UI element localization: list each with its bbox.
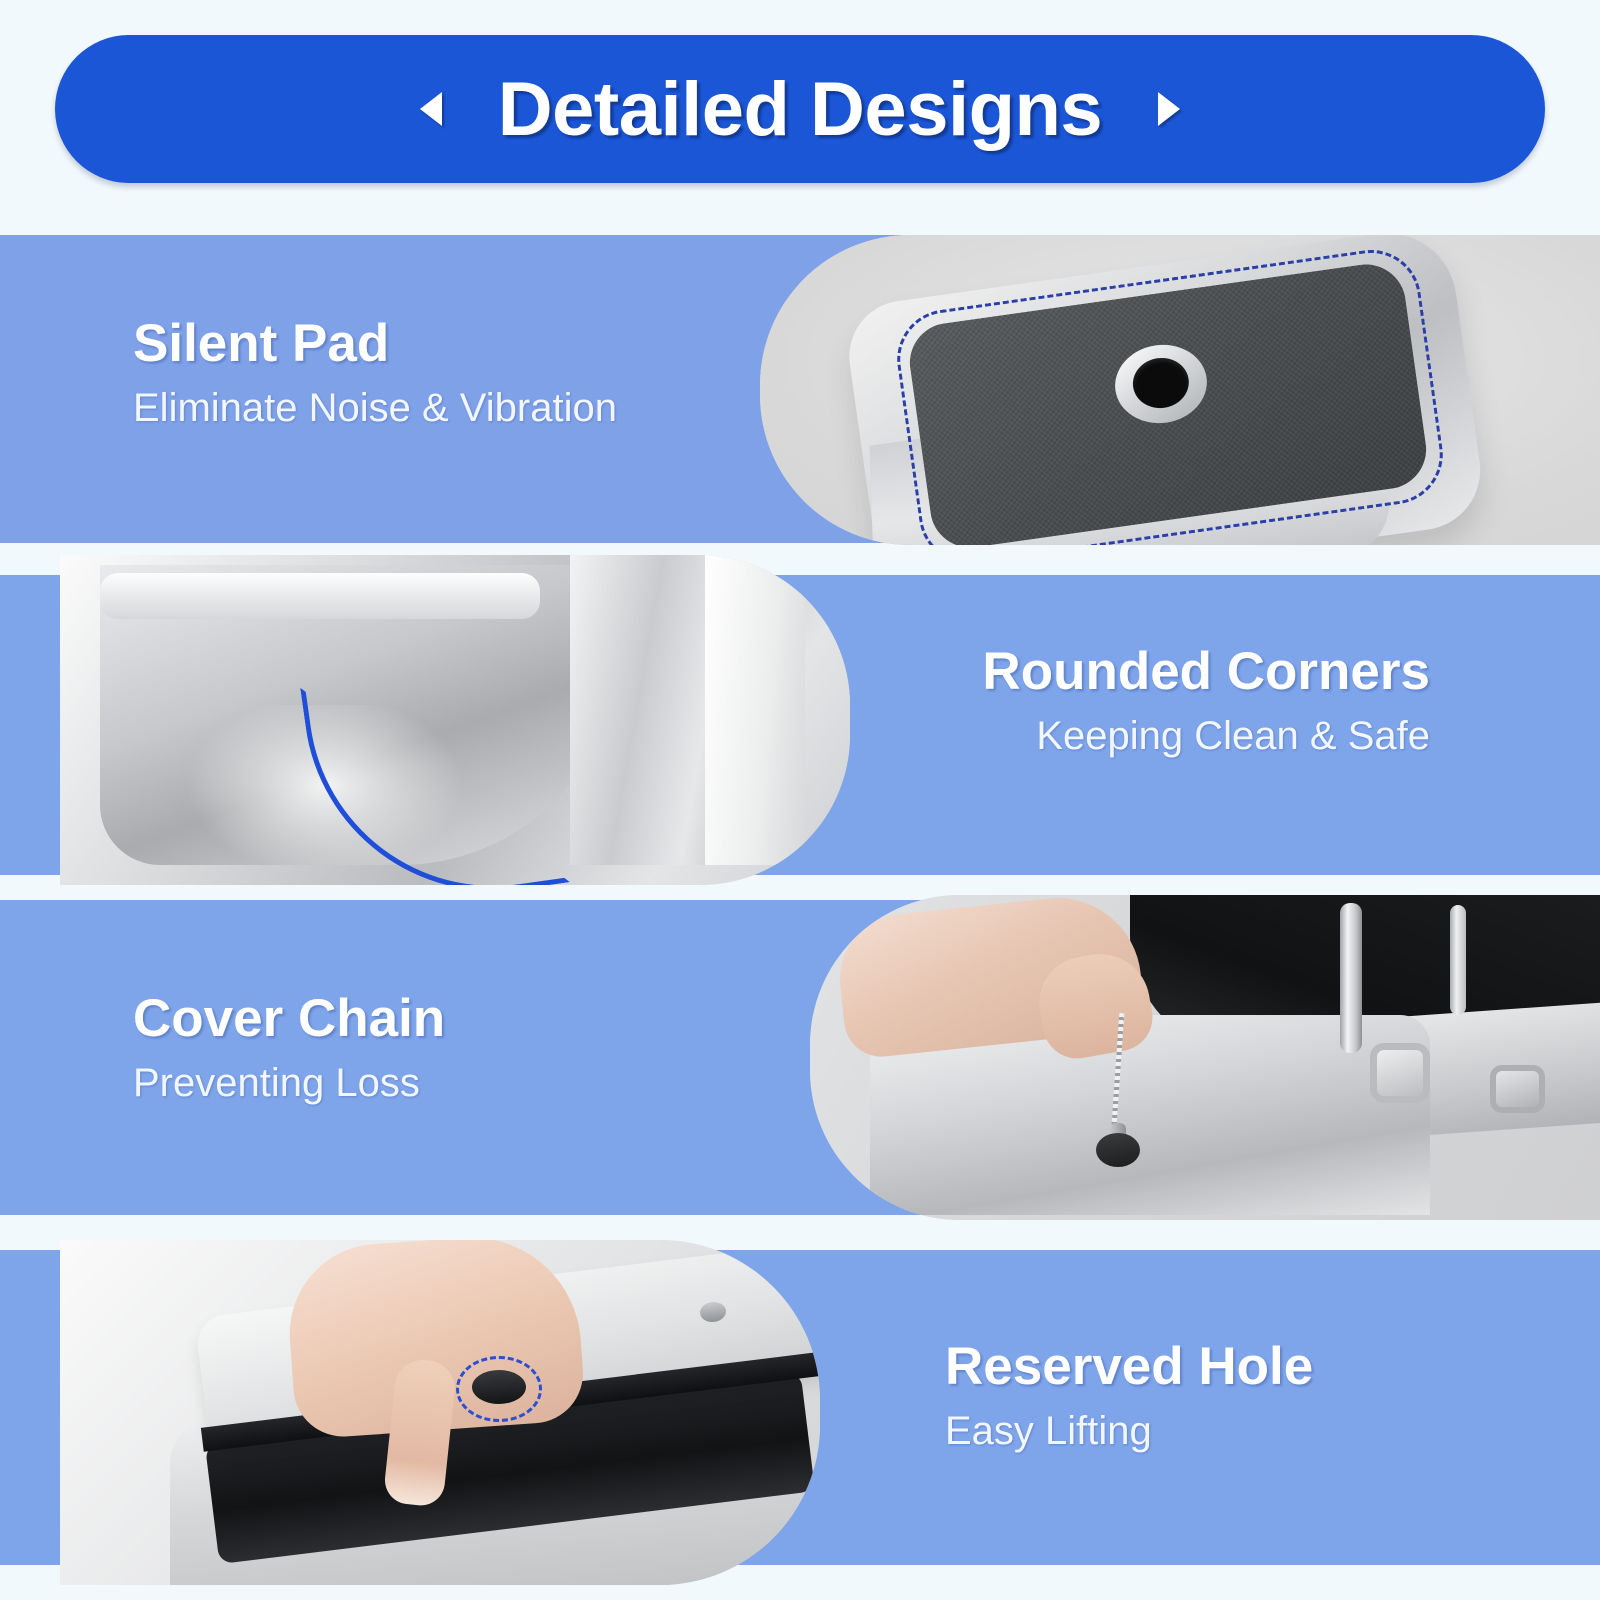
feature-title: Rounded Corners [982,643,1430,701]
feature-row-rounded-corners: Rounded Corners Keeping Clean & Safe [0,575,1600,875]
feature-title: Cover Chain [133,990,445,1048]
header-pill: Detailed Designs [55,35,1545,183]
page-title: Detailed Designs [498,66,1102,153]
feature-title: Silent Pad [133,315,617,373]
feature-subtitle: Easy Lifting [945,1406,1313,1456]
feature-text-block: Silent Pad Eliminate Noise & Vibration [133,315,617,433]
hinge-clip [1370,1043,1430,1103]
sink-outer-panel [705,555,805,865]
sink-rim [100,573,540,619]
feature-row-cover-chain: Cover Chain Preventing Loss [0,900,1600,1215]
latch-clip [1490,1065,1545,1113]
feature-subtitle: Preventing Loss [133,1058,445,1108]
feature-row-reserved-hole: Reserved Hole Easy Lifting [0,1250,1600,1565]
left-arrow-icon [420,92,442,126]
faucet-secondary-pipe [1450,905,1466,1015]
feature-text-block: Rounded Corners Keeping Clean & Safe [982,643,1430,761]
rounded-corner-closeup-photo [60,555,850,885]
right-arrow-icon [1158,92,1180,126]
feature-subtitle: Eliminate Noise & Vibration [133,383,617,433]
feature-text-block: Reserved Hole Easy Lifting [945,1338,1313,1456]
sink-underside-silent-pad-photo [760,235,1600,545]
drain-stopper [1096,1133,1140,1167]
feature-subtitle: Keeping Clean & Safe [982,711,1430,761]
header-banner: Detailed Designs [55,35,1545,183]
reserved-hole-lifting-photo [60,1240,820,1585]
reserved-hole-dashed-outline [456,1356,542,1422]
feature-title: Reserved Hole [945,1338,1313,1396]
cover-chain-stopper-photo [810,895,1600,1220]
feature-text-block: Cover Chain Preventing Loss [133,990,445,1108]
drain-opening [1110,339,1212,429]
feature-row-silent-pad: Silent Pad Eliminate Noise & Vibration [0,235,1600,543]
faucet-icon [1340,903,1362,1053]
